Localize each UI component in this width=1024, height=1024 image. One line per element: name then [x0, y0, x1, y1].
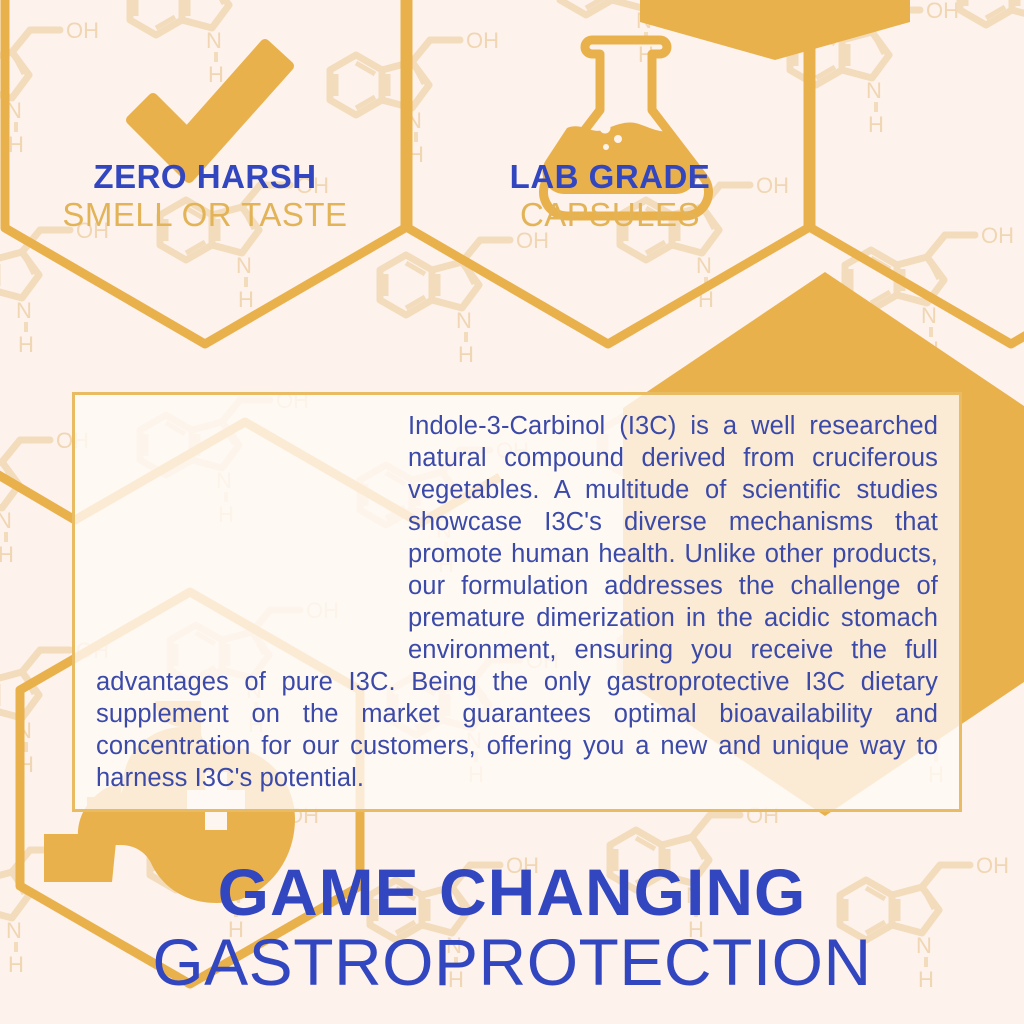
feature-card-zero-harsh: ZERO HARSH SMELL OR TASTE — [0, 160, 410, 233]
feature-card-title-zero-harsh: ZERO HARSH — [0, 160, 410, 193]
headline-line-1: GAME CHANGING — [0, 858, 1024, 926]
headline-line-2: GASTROPROTECTION — [0, 926, 1024, 998]
feature-card-lab-grade: LAB GRADE CAPSULES — [410, 160, 810, 233]
feature-card-subtitle-lab-grade: CAPSULES — [410, 197, 810, 233]
headline-block: GAME CHANGING GASTROPROTECTION — [0, 858, 1024, 998]
label-layer: ZERO HARSH SMELL OR TASTE LAB GRADE CAPS… — [0, 0, 1024, 1024]
feature-card-subtitle-zero-harsh: SMELL OR TASTE — [0, 197, 410, 233]
infographic-canvas: OH N H — [0, 0, 1024, 1024]
feature-card-title-lab-grade: LAB GRADE — [410, 160, 810, 193]
